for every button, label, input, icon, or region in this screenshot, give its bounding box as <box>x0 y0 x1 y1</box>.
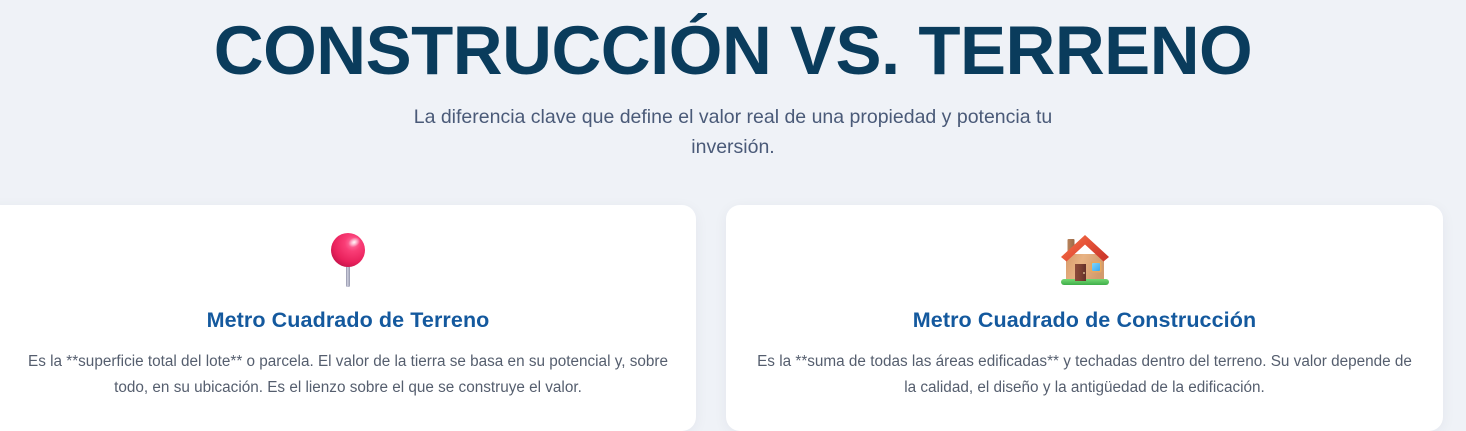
card-terreno[interactable]: Metro Cuadrado de Terreno Es la **superf… <box>0 205 696 431</box>
page-subtitle: La diferencia clave que define el valor … <box>376 102 1091 162</box>
page-title: CONSTRUCCIÓN VS. TERRENO <box>0 14 1466 89</box>
card-body-construccion: Es la **suma de todas las áreas edificad… <box>755 349 1415 402</box>
page-root: CONSTRUCCIÓN VS. TERRENO La diferencia c… <box>0 0 1466 431</box>
round-pushpin-icon <box>22 231 674 289</box>
comparison-cards-row: Metro Cuadrado de Terreno Es la **superf… <box>0 205 1466 431</box>
card-construccion[interactable]: Metro Cuadrado de Construcción Es la **s… <box>726 205 1443 431</box>
house-icon <box>748 231 1421 289</box>
card-body-terreno: Es la **superficie total del lote** o pa… <box>22 349 674 402</box>
hero-section: CONSTRUCCIÓN VS. TERRENO La diferencia c… <box>0 0 1466 205</box>
card-title-construccion: Metro Cuadrado de Construcción <box>748 307 1421 334</box>
card-title-terreno: Metro Cuadrado de Terreno <box>22 307 674 334</box>
